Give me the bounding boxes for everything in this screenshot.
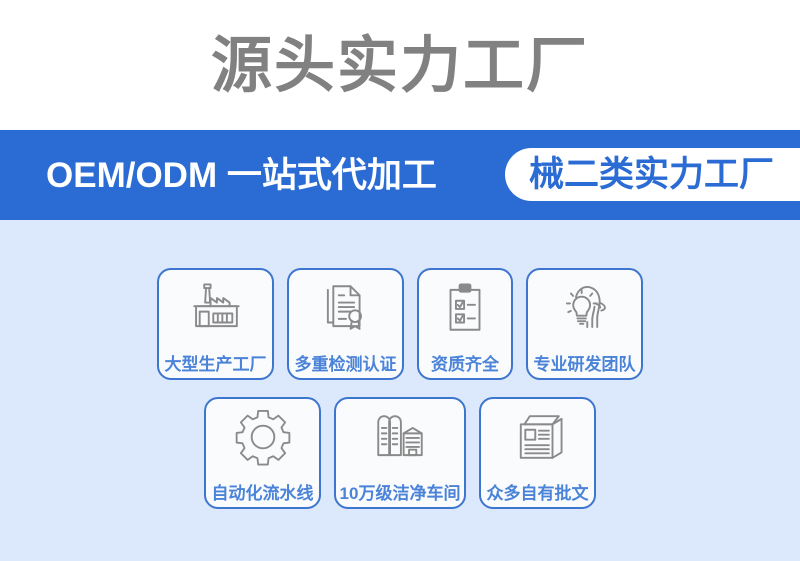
feature-card-label: 专业研发团队 bbox=[528, 356, 641, 374]
feature-card-automation-line[interactable]: 自动化流水线 bbox=[204, 397, 321, 509]
feature-card-factory[interactable]: 大型生产工厂 bbox=[157, 268, 274, 380]
header-section: 源头实力工厂 bbox=[0, 0, 800, 130]
banner-headline: OEM/ODM 一站式代加工 bbox=[46, 158, 437, 193]
factory-icon bbox=[187, 279, 245, 337]
feature-card-approvals[interactable]: 众多自有批文 bbox=[479, 397, 596, 509]
lightbulb-heads-icon bbox=[556, 279, 614, 337]
clipboard-checklist-icon bbox=[436, 279, 494, 337]
feature-card-cleanroom[interactable]: 10万级洁净车间 bbox=[334, 397, 466, 509]
feature-card-label: 资质齐全 bbox=[419, 356, 511, 374]
banner-badge-pill: 械二类实力工厂 bbox=[505, 148, 800, 201]
features-section: 大型生产工厂 多重检测认证 bbox=[0, 220, 800, 561]
certificate-icon bbox=[317, 279, 375, 337]
feature-card-label: 10万级洁净车间 bbox=[336, 485, 464, 503]
document-booklet-icon bbox=[509, 408, 567, 466]
storage-tanks-icon bbox=[371, 408, 429, 466]
feature-card-label: 自动化流水线 bbox=[206, 485, 319, 503]
promo-banner-page: 源头实力工厂 OEM/ODM 一站式代加工 械二类实力工厂 bbox=[0, 0, 800, 561]
feature-card-row-2: 自动化流水线 10万级洁净车间 bbox=[0, 397, 800, 509]
feature-card-label: 众多自有批文 bbox=[481, 485, 594, 503]
feature-card-label: 大型生产工厂 bbox=[159, 356, 272, 374]
banner-badge-label: 械二类实力工厂 bbox=[529, 157, 774, 192]
feature-card-row-1: 大型生产工厂 多重检测认证 bbox=[0, 268, 800, 380]
page-title: 源头实力工厂 bbox=[211, 35, 589, 96]
feature-card-label: 多重检测认证 bbox=[289, 356, 402, 374]
feature-card-qualifications[interactable]: 资质齐全 bbox=[417, 268, 513, 380]
feature-card-certification[interactable]: 多重检测认证 bbox=[287, 268, 404, 380]
feature-card-rnd-team[interactable]: 专业研发团队 bbox=[526, 268, 643, 380]
gear-icon bbox=[234, 408, 292, 466]
